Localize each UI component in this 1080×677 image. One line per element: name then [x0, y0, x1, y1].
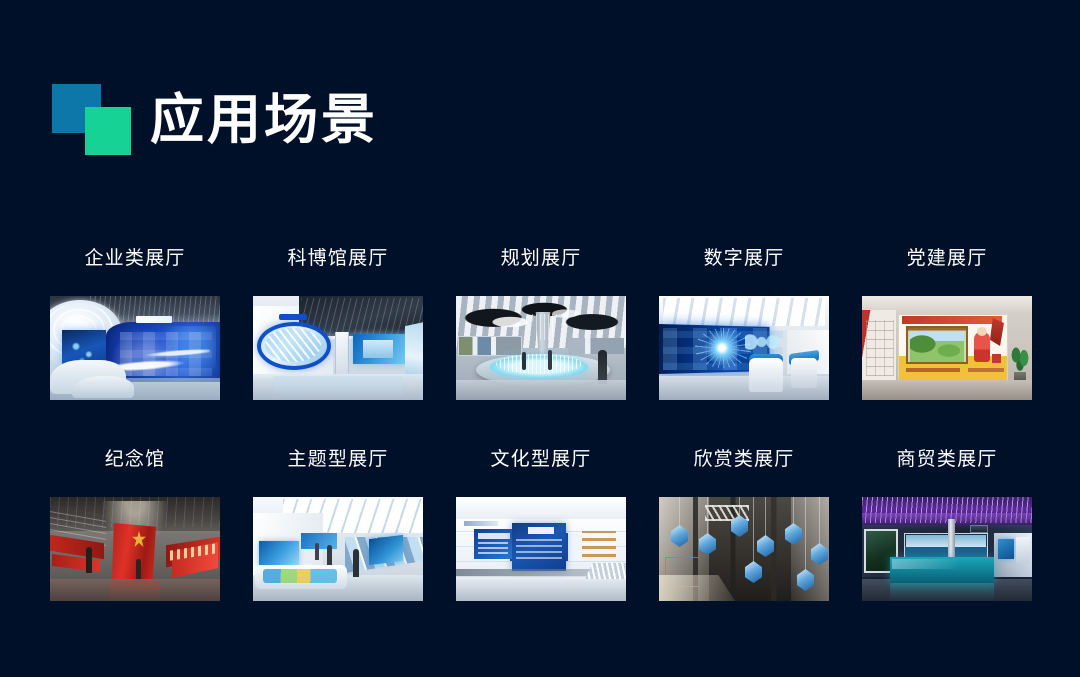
- page-title: 应用场景: [150, 93, 378, 147]
- scene-card-party-building[interactable]: 党建展厅: [862, 246, 1032, 400]
- scene-label: 商贸类展厅: [896, 447, 997, 473]
- scene-label: 党建展厅: [907, 246, 988, 272]
- scene-card-cultural[interactable]: 文化型展厅: [456, 447, 626, 601]
- scene-label: 文化型展厅: [490, 447, 591, 473]
- scene-thumbnail-urban-planning-exhibition-hall[interactable]: [456, 296, 626, 400]
- scene-thumbnail-science-museum-exhibition-hall[interactable]: [253, 296, 423, 400]
- scene-card-commerce[interactable]: 商贸类展厅: [862, 447, 1032, 601]
- scene-label: 企业类展厅: [84, 246, 185, 272]
- scene-thumbnail-commerce-trade-exhibition-hall[interactable]: [862, 497, 1032, 601]
- scene-grid: 企业类展厅 科博馆展厅 规划展厅: [50, 246, 1032, 601]
- scene-card-planning[interactable]: 规划展厅: [456, 246, 626, 400]
- scene-label: 纪念馆: [105, 447, 166, 473]
- scene-thumbnail-themed-exhibition-hall[interactable]: [253, 497, 423, 601]
- scene-thumbnail-corporate-exhibition-hall[interactable]: [50, 296, 220, 400]
- scene-card-themed[interactable]: 主题型展厅: [253, 447, 423, 601]
- scene-label: 规划展厅: [501, 246, 582, 272]
- page-header: 应用场景: [52, 84, 378, 156]
- two-squares-logo: [52, 84, 134, 156]
- scene-thumbnail-memorial-hall[interactable]: [50, 497, 220, 601]
- scene-card-science-museum[interactable]: 科博馆展厅: [253, 246, 423, 400]
- scene-label: 欣赏类展厅: [693, 447, 794, 473]
- scene-thumbnail-cultural-exhibition-hall[interactable]: [456, 497, 626, 601]
- scene-card-corporate[interactable]: 企业类展厅: [50, 246, 220, 400]
- logo-square-green-icon: [85, 107, 131, 155]
- scene-label: 科博馆展厅: [287, 246, 388, 272]
- scene-thumbnail-appreciation-exhibition-hall[interactable]: [659, 497, 829, 601]
- scene-card-memorial[interactable]: 纪念馆: [50, 447, 220, 601]
- scene-thumbnail-party-building-exhibition-hall[interactable]: [862, 296, 1032, 400]
- scene-label: 主题型展厅: [287, 447, 388, 473]
- scene-label: 数字展厅: [704, 246, 785, 272]
- scene-thumbnail-digital-exhibition-hall[interactable]: [659, 296, 829, 400]
- scene-card-appreciation[interactable]: 欣赏类展厅: [659, 447, 829, 601]
- scene-card-digital[interactable]: 数字展厅: [659, 246, 829, 400]
